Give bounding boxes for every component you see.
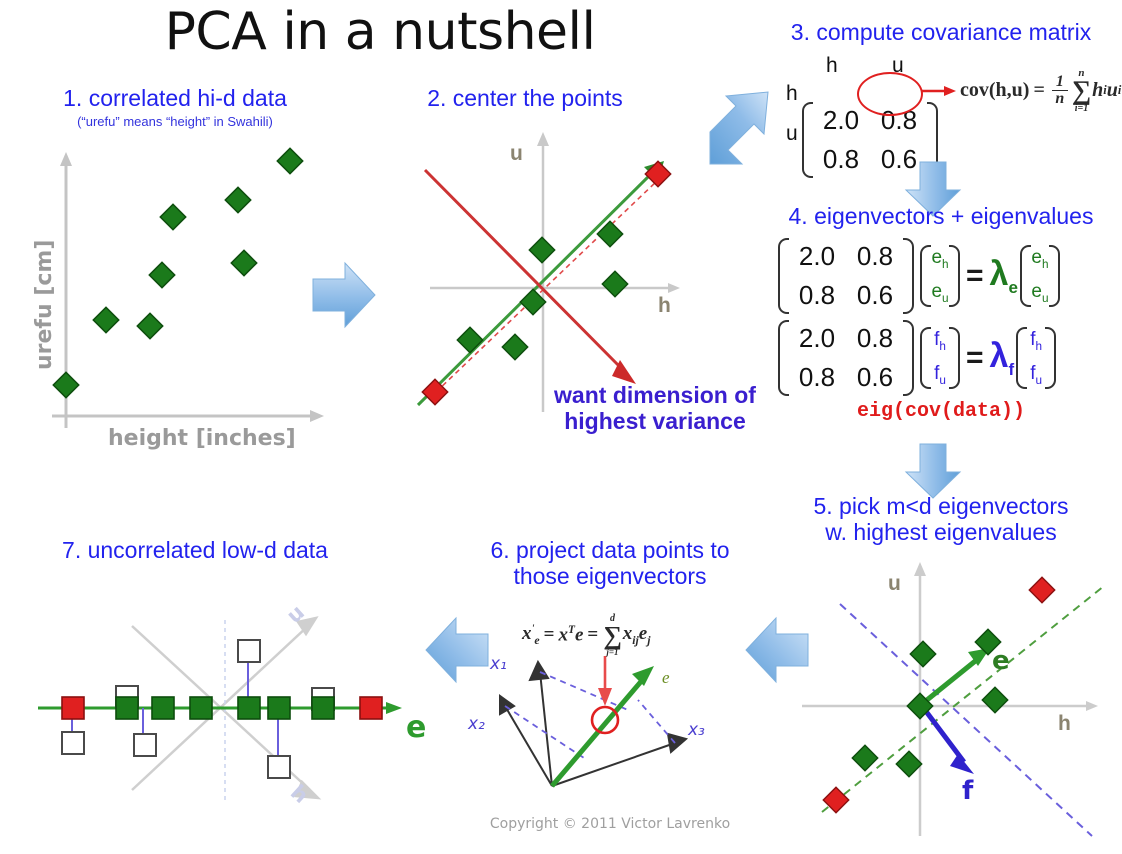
step-1-ylabel: urefu [cm] bbox=[32, 240, 57, 370]
step-5-label-f: f bbox=[962, 776, 973, 806]
eig2-cell-1-1: 0.6 bbox=[846, 361, 904, 394]
step-1-xlabel: height [inches] bbox=[108, 426, 296, 451]
eig1-cell-1-1: 0.6 bbox=[846, 279, 904, 312]
cov-cell-0-0: 2.0 bbox=[812, 104, 870, 137]
step-1-chart: urefu [cm] height [inches] bbox=[18, 138, 338, 458]
eigen-equation-2: 2.0 0.8 0.8 0.6 fh fu = λf fh fu bbox=[778, 320, 1056, 396]
eigen-vector-2-rhs: fh fu bbox=[1016, 327, 1056, 389]
copyright-notice: Copyright © 2011 Victor Lavrenko bbox=[440, 816, 780, 832]
step-1-subtitle: (“urefu” means “height” in Swahili) bbox=[10, 114, 340, 129]
step-6-label-x2: x₂ bbox=[468, 714, 485, 734]
sigma-symbol: ∑ bbox=[1072, 78, 1091, 104]
data-points bbox=[422, 161, 670, 404]
cov-cell-1-0: 0.8 bbox=[812, 143, 870, 176]
step-6-diagram: x₁ x₂ x₃ e bbox=[462, 638, 762, 798]
eig2-cell-0-0: 2.0 bbox=[788, 322, 846, 355]
step-6-label-e: e bbox=[662, 668, 670, 688]
eig1-rhs-vec-0: eh bbox=[1030, 247, 1050, 271]
eigenvector-f-arrow bbox=[922, 706, 974, 774]
step-2-heading: 2. center the points bbox=[360, 86, 690, 112]
step-4-panel: 4. eigenvectors + eigenvalues 2.0 0.8 0.… bbox=[762, 204, 1120, 430]
eig2-equals: = bbox=[966, 341, 984, 375]
centered-axes bbox=[430, 132, 680, 412]
cov-col-header-h: h bbox=[826, 54, 838, 78]
step-4-heading: 4. eigenvectors + eigenvalues bbox=[762, 204, 1120, 230]
eig1-equals: = bbox=[966, 259, 984, 293]
step-1-panel: 1. correlated hi-d data (“urefu” means “… bbox=[10, 86, 340, 466]
step-5-chart: u h e f bbox=[792, 554, 1112, 844]
cov-row-header-h: h bbox=[786, 82, 798, 106]
eig1-lambda: λe bbox=[990, 255, 1018, 298]
centered-axes bbox=[802, 562, 1098, 836]
step-7-label-e: e bbox=[406, 710, 426, 745]
step-5-xlabel: h bbox=[1058, 712, 1071, 736]
pc2-red-arrow bbox=[425, 170, 636, 384]
eig-code-snippet: eig(cov(data)) bbox=[762, 400, 1120, 423]
sigma-bottom-limit: i=1 bbox=[1072, 104, 1091, 114]
step-2-callout: want dimension of highest variance bbox=[540, 382, 770, 435]
step-7-chart: e u h bbox=[20, 578, 440, 828]
covariance-formula: cov(h,u) = 1 n n ∑ i=1 hiui bbox=[960, 68, 1121, 114]
eig2-lambda: λf bbox=[990, 337, 1015, 380]
eigen-matrix-1: 2.0 0.8 0.8 0.6 bbox=[778, 238, 914, 314]
data-points bbox=[53, 148, 302, 397]
step-6-panel: 6. project data points to those eigenvec… bbox=[450, 538, 770, 838]
cov-frac-den: n bbox=[1052, 91, 1068, 107]
step-2-ylabel: u bbox=[510, 142, 523, 166]
step-7-panel: 7. uncorrelated low-d data bbox=[20, 538, 440, 838]
eig2-rhs-vec-1: fu bbox=[1026, 363, 1046, 387]
step-6-label-x3: x₃ bbox=[688, 720, 705, 740]
eigen-vector-2: fh fu bbox=[920, 327, 960, 389]
cov-term-h: h bbox=[1092, 79, 1103, 102]
step-5-ylabel: u bbox=[888, 572, 901, 596]
eigen-matrix-2: 2.0 0.8 0.8 0.6 bbox=[778, 320, 914, 396]
eig2-cell-0-1: 0.8 bbox=[846, 322, 904, 355]
x-axis bbox=[52, 410, 324, 422]
step-1-heading: 1. correlated hi-d data bbox=[10, 86, 340, 112]
eig1-vec-0: eh bbox=[930, 247, 950, 271]
cov-formula-eq: = bbox=[1033, 79, 1044, 102]
eigen-vector-1-rhs: eh eu bbox=[1020, 245, 1060, 307]
cov-term-u-sub: i bbox=[1118, 83, 1121, 98]
step-2-chart: u h bbox=[370, 122, 720, 422]
eig2-cell-1-0: 0.8 bbox=[788, 361, 846, 394]
eig1-vec-1: eu bbox=[930, 281, 950, 305]
eig1-rhs-vec-1: eu bbox=[1030, 281, 1050, 305]
step-3-panel: 3. compute covariance matrix h u h u 2.0… bbox=[762, 20, 1120, 180]
cov-highlight-circle bbox=[857, 72, 923, 116]
cov-pointer-arrow bbox=[922, 82, 958, 100]
eig2-vec-0: fh bbox=[930, 329, 950, 353]
eig1-cell-1-0: 0.8 bbox=[788, 279, 846, 312]
step-5-heading: 5. pick m<d eigenvectors w. highest eige… bbox=[762, 494, 1120, 546]
step-7-heading: 7. uncorrelated low-d data bbox=[20, 538, 370, 564]
eigen-equation-1: 2.0 0.8 0.8 0.6 eh eu = λe eh eu bbox=[778, 238, 1060, 314]
cov-formula-lhs: cov(h,u) bbox=[960, 79, 1029, 102]
data-points bbox=[823, 577, 1054, 812]
cov-row-header-u: u bbox=[786, 122, 798, 146]
step-6-heading: 6. project data points to those eigenvec… bbox=[450, 538, 770, 590]
page-title: PCA in a nutshell bbox=[0, 2, 760, 62]
eig2-rhs-vec-0: fh bbox=[1026, 329, 1046, 353]
eig2-vec-1: fu bbox=[930, 363, 950, 387]
step-5-label-e: e bbox=[992, 646, 1010, 676]
cov-frac-num: 1 bbox=[1052, 74, 1068, 91]
cov-term-u: u bbox=[1107, 79, 1118, 102]
step-3-heading: 3. compute covariance matrix bbox=[762, 20, 1120, 46]
eigen-vector-1: eh eu bbox=[920, 245, 960, 307]
e-axis-line bbox=[38, 702, 402, 714]
eig1-cell-0-0: 2.0 bbox=[788, 240, 846, 273]
step-2-panel: 2. center the points bbox=[360, 86, 760, 456]
step-2-xlabel: h bbox=[658, 294, 671, 318]
eig1-cell-0-1: 0.8 bbox=[846, 240, 904, 273]
